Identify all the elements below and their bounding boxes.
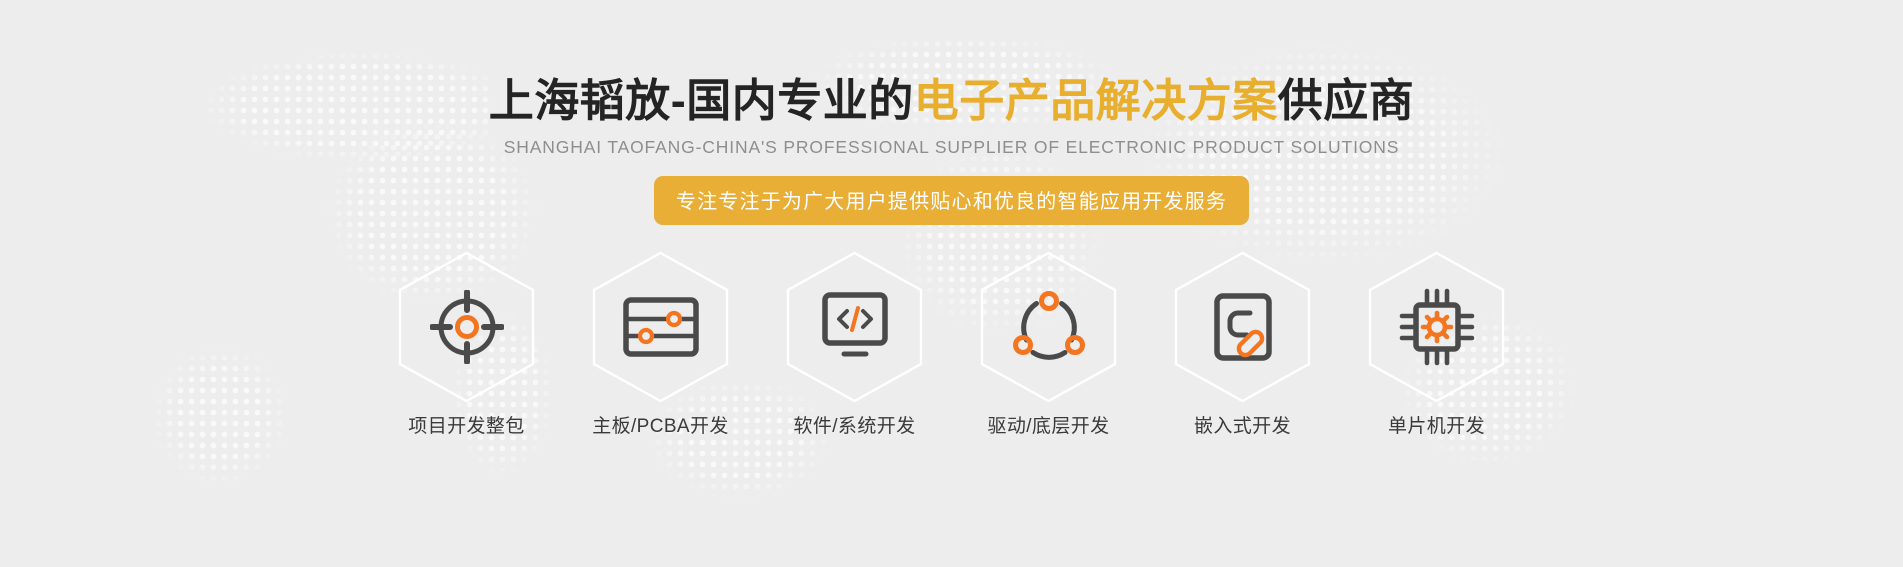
feature-item-embedded[interactable]: 嵌入式开发 bbox=[1162, 251, 1323, 438]
feature-label: 主板/PCBA开发 bbox=[592, 411, 729, 438]
feature-item-mcu[interactable]: 单片机开发 bbox=[1356, 251, 1517, 438]
embedded-link-icon bbox=[1209, 292, 1277, 362]
feature-label: 项目开发整包 bbox=[408, 411, 524, 438]
hero-content: 上海韬放-国内专业的电子产品解决方案供应商 SHANGHAI TAOFANG-C… bbox=[0, 0, 1903, 438]
tagline-pill: 专注专注于为广大用户提供贴心和优良的智能应用开发服务 bbox=[654, 176, 1249, 225]
hexagon-frame bbox=[1367, 251, 1506, 403]
feature-item-software-system[interactable]: 软件/系统开发 bbox=[774, 251, 935, 438]
hexagon-frame bbox=[1173, 251, 1312, 403]
tagline-container: 专注专注于为广大用户提供贴心和优良的智能应用开发服务 bbox=[0, 176, 1903, 225]
feature-item-pcba[interactable]: 主板/PCBA开发 bbox=[580, 251, 741, 438]
headline-segment-primary: 上海韬放-国内专业的 bbox=[489, 75, 914, 126]
page-title: 上海韬放-国内专业的电子产品解决方案供应商 bbox=[0, 0, 1903, 127]
network-nodes-icon bbox=[1013, 291, 1085, 363]
microchip-gear-icon bbox=[1399, 288, 1475, 366]
headline-segment-accent: 电子产品解决方案 bbox=[914, 75, 1278, 126]
feature-label: 软件/系统开发 bbox=[793, 411, 915, 438]
crosshair-target-icon bbox=[430, 290, 504, 364]
hexagon-frame bbox=[979, 251, 1118, 403]
hexagon-frame bbox=[785, 251, 924, 403]
pcb-board-icon bbox=[623, 297, 699, 357]
feature-item-driver-lowlevel[interactable]: 驱动/底层开发 bbox=[968, 251, 1129, 438]
feature-label: 单片机开发 bbox=[1388, 411, 1485, 438]
feature-hexagon-row: 项目开发整包 bbox=[0, 251, 1903, 438]
subtitle-english: SHANGHAI TAOFANG-CHINA'S PROFESSIONAL SU… bbox=[0, 137, 1903, 158]
headline-segment-tail: 供应商 bbox=[1278, 75, 1415, 126]
hexagon-frame bbox=[397, 251, 536, 403]
feature-item-project-package[interactable]: 项目开发整包 bbox=[386, 251, 547, 438]
hero-banner: 上海韬放-国内专业的电子产品解决方案供应商 SHANGHAI TAOFANG-C… bbox=[0, 0, 1903, 567]
monitor-code-icon bbox=[822, 292, 888, 362]
feature-label: 嵌入式开发 bbox=[1194, 411, 1291, 438]
feature-label: 驱动/底层开发 bbox=[987, 411, 1109, 438]
hexagon-frame bbox=[591, 251, 730, 403]
